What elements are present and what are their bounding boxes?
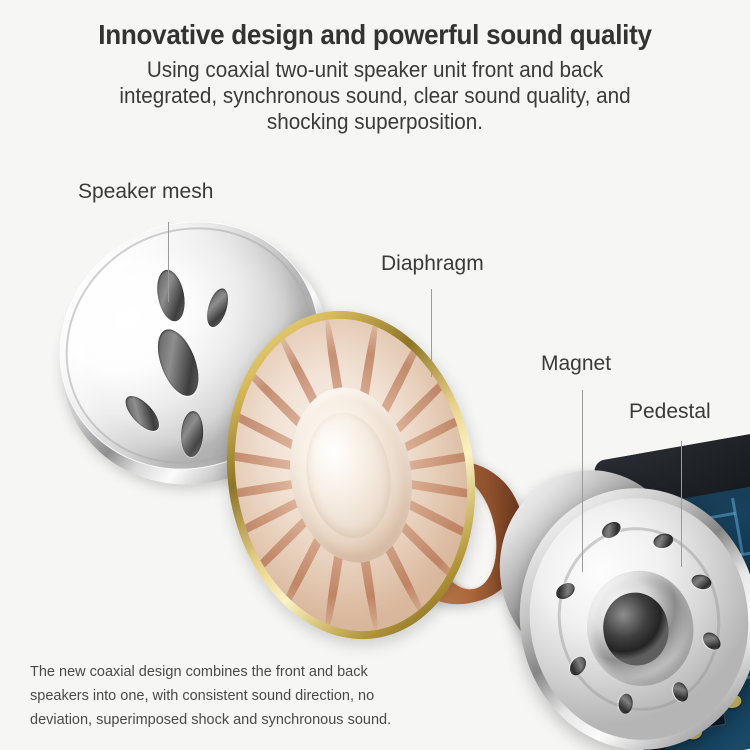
subtitle-line-1: Using coaxial two-unit speaker unit fron… [23,57,728,83]
page-subtitle: Using coaxial two-unit speaker unit fron… [23,57,728,135]
caption-line-2: speakers into one, with consistent sound… [30,684,460,708]
subtitle-line-2: integrated, synchronous sound, clear sou… [23,83,728,109]
callout-label-diaphragm: Diaphragm [381,252,484,276]
pedestal-part [503,473,750,750]
leader-line-pedestal [681,441,682,567]
leader-line-diaphragm [431,289,432,377]
callout-label-speaker-mesh: Speaker mesh [78,180,213,204]
caption-line-3: deviation, superimposed shock and synchr… [30,708,460,732]
diaphragm-part [204,293,499,657]
bolt-hole [617,694,633,715]
header: Innovative design and powerful sound qua… [0,18,750,135]
bottom-caption: The new coaxial design combines the fron… [30,660,460,732]
product-infographic: Innovative design and powerful sound qua… [0,0,750,750]
callout-label-magnet: Magnet [541,352,611,376]
leader-line-magnet [582,390,583,572]
page-title: Innovative design and powerful sound qua… [26,18,724,52]
subtitle-line-3: shocking superposition. [23,109,728,135]
diaphragm-cone [213,302,489,648]
caption-line-1: The new coaxial design combines the fron… [30,660,460,684]
leader-line-speaker-mesh [168,222,169,302]
callout-label-pedestal: Pedestal [629,400,711,424]
